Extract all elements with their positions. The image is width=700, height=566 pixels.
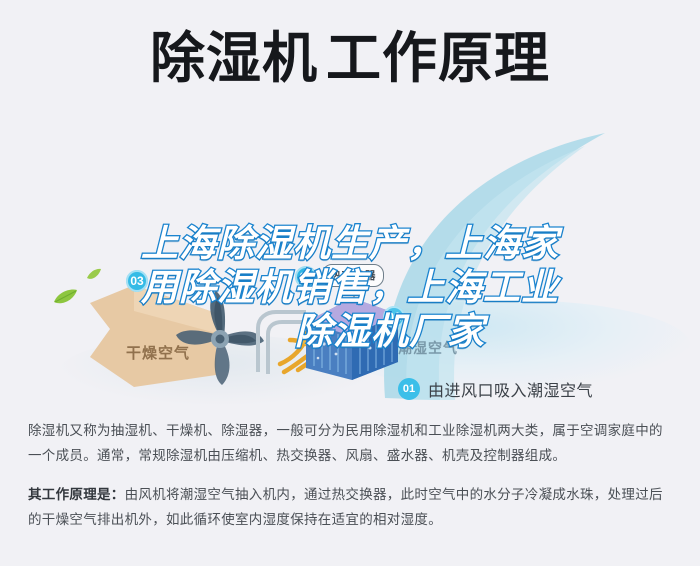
heat-exchanger-callout: 热交换器: [322, 264, 384, 287]
dehumidifier-diagram: 干燥空气 03: [0, 120, 700, 405]
wet-air-label: 潮湿空气: [398, 338, 458, 358]
paragraph-definition: 除湿机又称为抽湿机、干燥机、除湿器，一般可分为民用除湿机和工业除湿机两大类，属于…: [28, 418, 676, 468]
step-text: 由进风口吸入潮湿空气: [428, 377, 593, 401]
diagram-badge-03: 03: [126, 270, 148, 292]
leaf-icon: [52, 288, 78, 311]
steps-list: 01 由进风口吸入潮湿空气 02 潮湿空气经过蒸发器冷凝成水珠 03 从上部出风…: [398, 372, 698, 405]
page-root: 除湿机工作原理: [0, 0, 700, 566]
title-part-one: 除湿机: [150, 28, 318, 88]
article-body: 除湿机又称为抽湿机、干燥机、除湿器，一般可分为民用除湿机和工业除湿机两大类，属于…: [28, 418, 676, 546]
heat-exchanger-icon: [300, 292, 400, 387]
principle-lead: 其工作原理是：: [28, 487, 125, 502]
title-part-two: 工作原理: [326, 28, 550, 88]
step-number: 01: [398, 378, 420, 400]
page-title: 除湿机工作原理: [0, 28, 700, 88]
list-item: 01 由进风口吸入潮湿空气: [398, 372, 698, 405]
paragraph-principle: 其工作原理是：由风机将潮湿空气抽入机内，通过热交换器，此时空气中的水分子冷凝成水…: [28, 482, 676, 532]
diagram-badge-02: 02: [295, 266, 317, 288]
diagram-badge-01: 01: [383, 306, 405, 328]
